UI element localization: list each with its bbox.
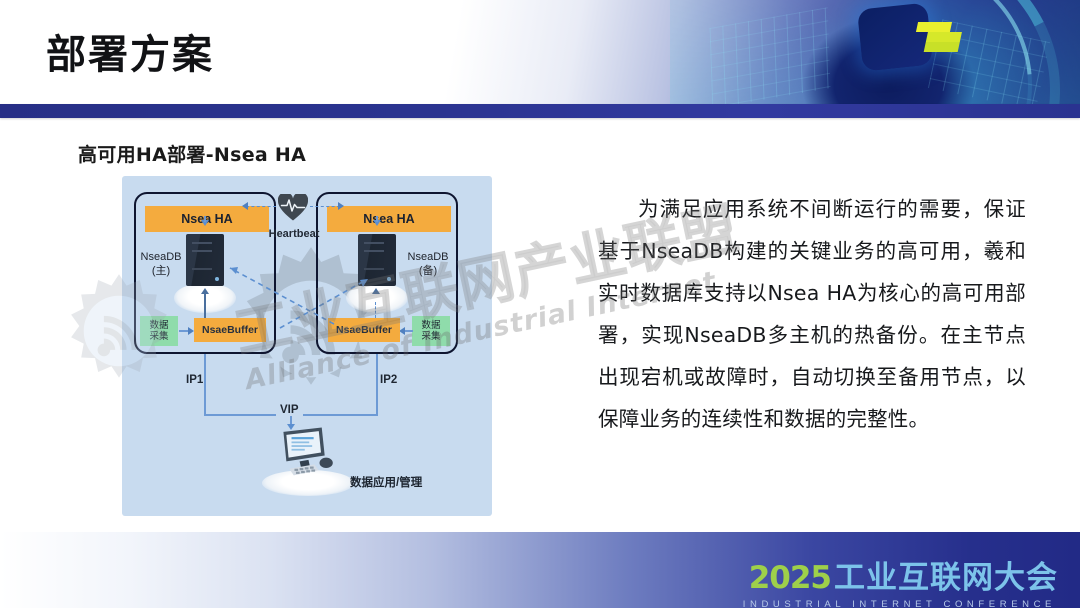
heartbeat-link-left (246, 206, 276, 207)
server-icon-primary (186, 234, 224, 286)
header-accent-band (0, 104, 1080, 118)
link-buffer-db-standby (375, 302, 376, 318)
link-standby-to-net (376, 354, 378, 376)
conference-year: 2025 (749, 560, 831, 596)
conference-logo: 2025 工业互联网大会 INDUSTRIAL INTERNET CONFERE… (743, 552, 1058, 608)
desktop-computer-icon (270, 426, 344, 482)
buffer-box-primary: NsaeBuffer (194, 318, 266, 342)
arrow-buffer-db-primary (201, 288, 209, 294)
section-subtitle: 高可用HA部署-Nsea HA (78, 140, 306, 167)
net-vertical-right (376, 376, 378, 416)
conference-name-en: INDUSTRIAL INTERNET CONFERENCE (743, 599, 1056, 608)
slide-root: 部署方案 高可用HA部署-Nsea HA Nsea HA Nse (0, 0, 1080, 608)
vip-label: VIP (276, 404, 303, 416)
arrow-heartbeat-right (338, 202, 344, 210)
arrow-heartbeat-left (242, 202, 248, 210)
nsea-ha-bar-standby: Nsea HA (327, 206, 451, 232)
slide-header: 部署方案 (0, 0, 1080, 106)
link-buffer-db-primary (204, 294, 206, 318)
db-label-primary: NseaDB (主) (136, 250, 186, 278)
conference-name-cn: 工业互联网大会 (834, 552, 1058, 597)
client-label: 数据应用/管理 (350, 474, 422, 490)
server-icon-standby (358, 234, 396, 286)
net-vertical-left (204, 376, 206, 416)
ip-label-primary: IP1 (186, 374, 203, 386)
link-ha-db-primary (204, 216, 206, 222)
nsea-ha-architecture-diagram: Nsea HA NseaDB (主) 数据 采集 NsaeBuffer Nsea… (122, 176, 492, 516)
arrow-buffer-db-standby (372, 288, 380, 294)
heartbeat-label: Heartbeat (260, 228, 328, 240)
data-collect-box-standby: 数据 采集 (412, 316, 450, 346)
link-primary-to-net (204, 354, 206, 376)
buffer-box-standby: NsaeBuffer (328, 318, 400, 342)
link-collect-buffer-primary (179, 330, 188, 332)
link-collect-buffer-standby (405, 330, 413, 332)
db-label-standby: NseaDB (备) (402, 250, 454, 278)
page-title: 部署方案 (46, 22, 214, 80)
link-ha-db-standby (376, 216, 378, 222)
heartbeat-link-right (310, 206, 340, 207)
data-collect-box-primary: 数据 采集 (140, 316, 178, 346)
ip-label-standby: IP2 (380, 374, 397, 386)
heartbeat-icon (278, 194, 308, 222)
logo-badge (857, 3, 933, 72)
nsea-ha-bar-primary: Nsea HA (145, 206, 269, 232)
description-paragraph: 为满足应用系统不间断运行的需要，保证基于NseaDB构建的关键业务的高可用，羲和… (598, 188, 1026, 440)
